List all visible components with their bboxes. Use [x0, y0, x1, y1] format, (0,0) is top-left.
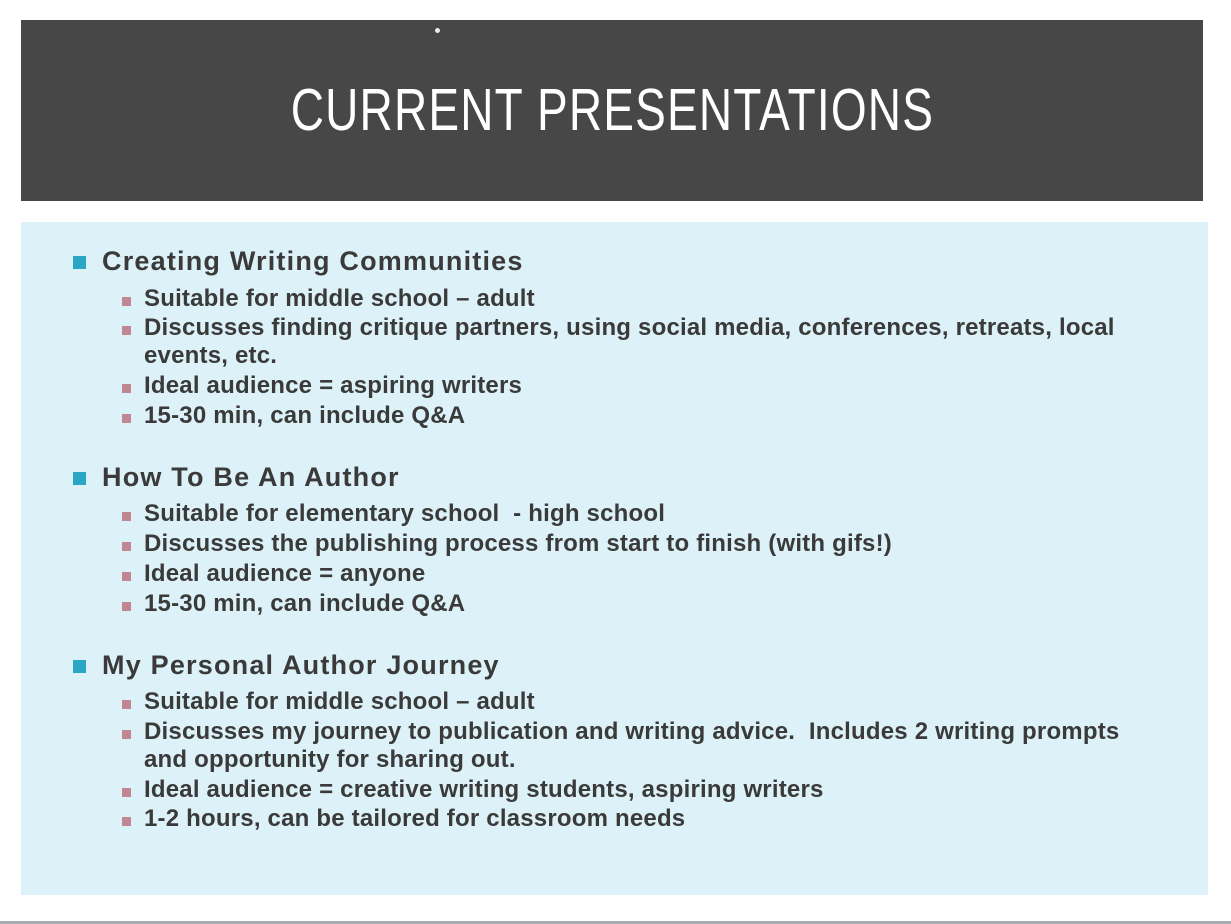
square-bullet-icon	[73, 472, 86, 485]
square-subbullet-icon	[122, 602, 131, 611]
block-detail: 15-30 min, can include Q&A	[144, 402, 465, 430]
block-detail: Ideal audience = anyone	[144, 560, 425, 588]
square-subbullet-icon	[122, 730, 131, 739]
block-detail: Discusses the publishing process from st…	[144, 530, 892, 558]
square-subbullet-icon	[122, 384, 131, 393]
slide-body-panel: Creating Writing Communities Suitable fo…	[21, 222, 1208, 895]
block-detail: Suitable for middle school – adult	[144, 688, 535, 716]
block-detail: Ideal audience = creative writing studen…	[144, 776, 824, 804]
square-subbullet-icon	[122, 542, 131, 551]
block-heading: My Personal Author Journey	[102, 648, 500, 683]
list-item: Discusses the publishing process from st…	[73, 530, 1188, 558]
block-detail: Suitable for elementary school - high sc…	[144, 500, 665, 528]
list-item: Suitable for middle school – adult	[73, 688, 1188, 716]
square-subbullet-icon	[122, 297, 131, 306]
presentation-slide: Current Presentations Creating Writing C…	[0, 0, 1231, 924]
list-item: 15-30 min, can include Q&A	[73, 402, 1188, 430]
square-subbullet-icon	[122, 700, 131, 709]
square-subbullet-icon	[122, 817, 131, 826]
block-heading: How To Be An Author	[102, 460, 400, 495]
cursor-dot-icon	[435, 28, 440, 33]
block-detail: 15-30 min, can include Q&A	[144, 590, 465, 618]
content-block: Creating Writing Communities Suitable fo…	[73, 244, 1188, 430]
list-item: Ideal audience = aspiring writers	[73, 372, 1188, 400]
block-detail: 1-2 hours, can be tailored for classroom…	[144, 805, 685, 833]
list-item: Creating Writing Communities	[73, 244, 1188, 279]
block-detail: Suitable for middle school – adult	[144, 285, 535, 313]
content-block: My Personal Author Journey Suitable for …	[73, 648, 1188, 834]
block-detail: Ideal audience = aspiring writers	[144, 372, 522, 400]
slide-title-banner: Current Presentations	[21, 20, 1203, 201]
content-block: How To Be An Author Suitable for element…	[73, 460, 1188, 618]
page-title: Current Presentations	[290, 81, 933, 140]
list-item: Discusses my journey to publication and …	[73, 718, 1188, 774]
square-subbullet-icon	[122, 414, 131, 423]
list-item: 15-30 min, can include Q&A	[73, 590, 1188, 618]
block-detail: Discusses finding critique partners, usi…	[144, 314, 1159, 370]
square-subbullet-icon	[122, 788, 131, 797]
list-item: Discusses finding critique partners, usi…	[73, 314, 1188, 370]
list-item: Ideal audience = creative writing studen…	[73, 776, 1188, 804]
list-item: Suitable for middle school – adult	[73, 285, 1188, 313]
list-item: Suitable for elementary school - high sc…	[73, 500, 1188, 528]
square-bullet-icon	[73, 256, 86, 269]
square-subbullet-icon	[122, 572, 131, 581]
square-subbullet-icon	[122, 512, 131, 521]
block-detail: Discusses my journey to publication and …	[144, 718, 1159, 774]
square-subbullet-icon	[122, 326, 131, 335]
block-heading: Creating Writing Communities	[102, 244, 524, 279]
list-item: My Personal Author Journey	[73, 648, 1188, 683]
list-item: How To Be An Author	[73, 460, 1188, 495]
square-bullet-icon	[73, 660, 86, 673]
list-item: Ideal audience = anyone	[73, 560, 1188, 588]
list-item: 1-2 hours, can be tailored for classroom…	[73, 805, 1188, 833]
